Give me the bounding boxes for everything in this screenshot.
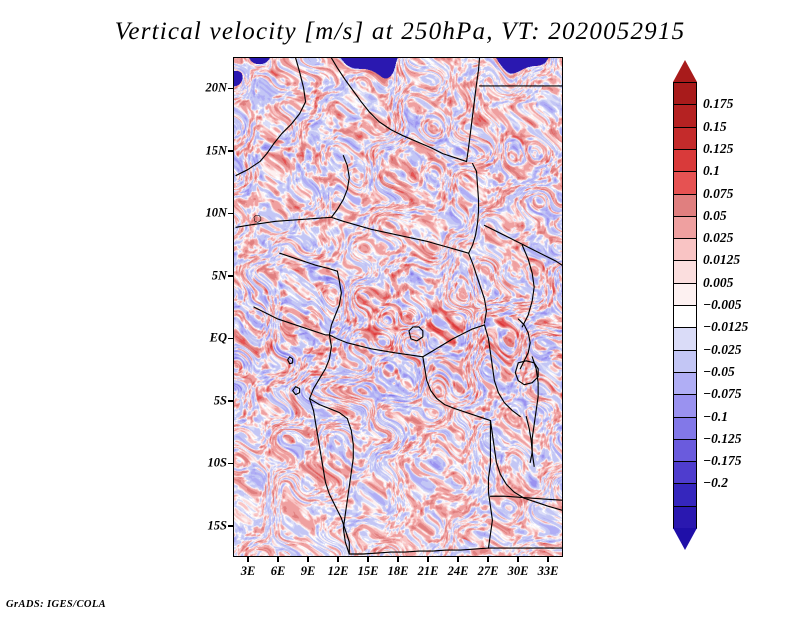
- y-axis-tick-label: 15S: [185, 518, 227, 533]
- x-axis-tick-label: 12E: [328, 564, 349, 579]
- colorbar-band: [673, 461, 697, 485]
- colorbar-tick-label: 0.0125: [703, 252, 740, 268]
- y-axis-tick-mark: [228, 150, 233, 152]
- y-axis-tick-mark: [228, 525, 233, 527]
- y-axis-tick-label: 15N: [185, 143, 227, 158]
- x-axis-tick-label: 9E: [301, 564, 316, 579]
- colorbar-band: [673, 327, 697, 351]
- colorbar-band: [673, 506, 697, 530]
- y-axis-tick-label: EQ: [185, 331, 227, 346]
- colorbar-tick-label: 0.05: [703, 208, 727, 224]
- x-axis-tick-mark: [457, 557, 459, 562]
- colorbar-band: [673, 372, 697, 396]
- x-axis-tick-mark: [277, 557, 279, 562]
- credit-text: GrADS: IGES/COLA: [6, 599, 106, 610]
- x-axis-tick-label: 18E: [388, 564, 409, 579]
- x-axis-tick-mark: [367, 557, 369, 562]
- colorbar-tick-label: −0.2: [703, 475, 728, 491]
- colorbar-tick-label: 0.125: [703, 141, 733, 157]
- y-axis-tick-mark: [228, 88, 233, 90]
- colorbar-band: [673, 104, 697, 128]
- colorbar-band: [673, 171, 697, 195]
- colorbar-band: [673, 216, 697, 240]
- colorbar-band: [673, 82, 697, 106]
- x-axis-tick-mark: [547, 557, 549, 562]
- colorbar-band: [673, 194, 697, 218]
- colorbar-tick-label: 0.075: [703, 186, 733, 202]
- page-title: Vertical velocity [m/s] at 250hPa, VT: 2…: [0, 18, 800, 46]
- colorbar-band: [673, 394, 697, 418]
- x-axis-tick-mark: [247, 557, 249, 562]
- y-axis-tick-mark: [228, 275, 233, 277]
- colorbar-tick-label: −0.005: [703, 297, 742, 313]
- colorbar-band: [673, 283, 697, 307]
- colorbar-tick-label: −0.025: [703, 342, 742, 358]
- y-axis-tick-mark: [228, 463, 233, 465]
- colorbar-band: [673, 260, 697, 284]
- country-borders-overlay: [234, 58, 562, 556]
- x-axis-tick-mark: [307, 557, 309, 562]
- x-axis-tick-label: 30E: [508, 564, 529, 579]
- colorbar-band: [673, 417, 697, 441]
- x-axis-tick-mark: [487, 557, 489, 562]
- x-axis-tick-label: 6E: [271, 564, 286, 579]
- colorbar-band: [673, 149, 697, 173]
- colorbar: 0.1750.150.1250.10.0750.050.0250.01250.0…: [673, 60, 697, 550]
- y-axis-tick-label: 5N: [185, 268, 227, 283]
- colorbar-tick-label: −0.125: [703, 431, 742, 447]
- x-axis-tick-label: 27E: [478, 564, 499, 579]
- x-axis-tick-mark: [427, 557, 429, 562]
- colorbar-tick-label: −0.175: [703, 453, 742, 469]
- colorbar-tick-label: 0.175: [703, 96, 733, 112]
- y-axis-tick-label: 10N: [185, 206, 227, 221]
- x-axis-tick-label: 15E: [358, 564, 379, 579]
- colorbar-band: [673, 238, 697, 262]
- colorbar-band: [673, 127, 697, 151]
- x-axis-tick-label: 33E: [538, 564, 559, 579]
- y-axis-tick-label: 5S: [185, 393, 227, 408]
- colorbar-arrow-bottom: [673, 528, 697, 550]
- colorbar-tick-label: 0.15: [703, 119, 727, 135]
- colorbar-tick-label: 0.025: [703, 230, 733, 246]
- colorbar-band: [673, 350, 697, 374]
- colorbar-tick-label: 0.1: [703, 163, 720, 179]
- y-axis-tick-mark: [228, 338, 233, 340]
- colorbar-tick-label: −0.1: [703, 409, 728, 425]
- x-axis-tick-mark: [337, 557, 339, 562]
- colorbar-tick-label: −0.075: [703, 386, 742, 402]
- colorbar-band: [673, 483, 697, 507]
- colorbar-tick-label: −0.05: [703, 364, 735, 380]
- y-axis-tick-label: 10S: [185, 456, 227, 471]
- y-axis-tick-label: 20N: [185, 81, 227, 96]
- x-axis-tick-label: 3E: [241, 564, 256, 579]
- x-axis-tick-mark: [397, 557, 399, 562]
- colorbar-tick-label: −0.0125: [703, 319, 748, 335]
- x-axis-tick-label: 21E: [418, 564, 439, 579]
- x-axis-tick-mark: [517, 557, 519, 562]
- colorbar-band: [673, 305, 697, 329]
- y-axis-tick-mark: [228, 213, 233, 215]
- colorbar-tick-label: 0.005: [703, 275, 733, 291]
- map-plot-area: [233, 57, 563, 557]
- grads-plot-window: Vertical velocity [m/s] at 250hPa, VT: 2…: [0, 0, 800, 618]
- y-axis-tick-mark: [228, 400, 233, 402]
- x-axis-tick-label: 24E: [448, 564, 469, 579]
- colorbar-arrow-top: [673, 60, 697, 82]
- colorbar-band: [673, 439, 697, 463]
